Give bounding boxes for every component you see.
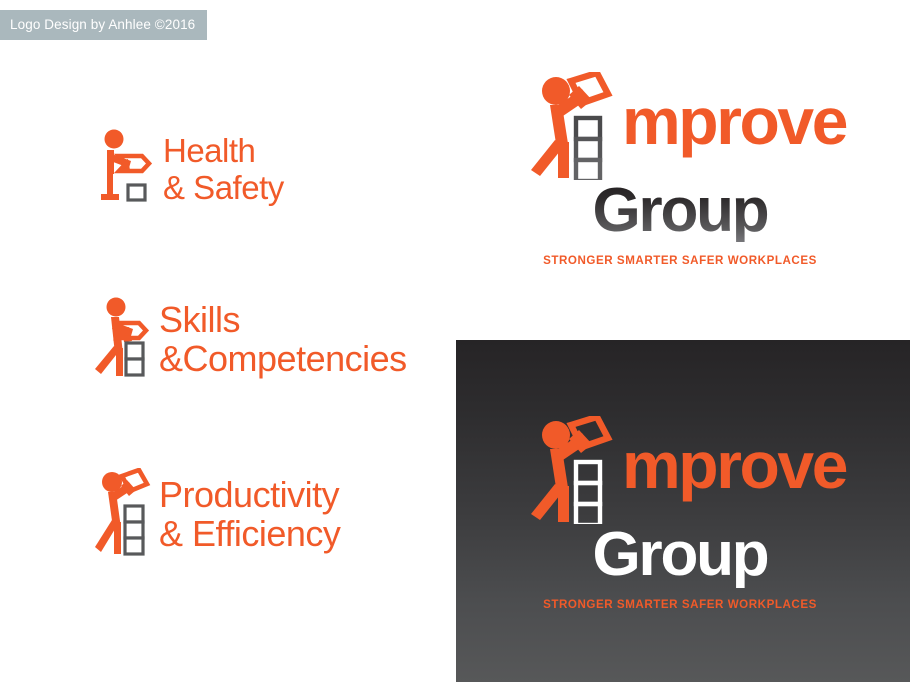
master-logo-dark[interactable]: mprove Group STRONGER SMARTER SAFER WORK… <box>530 426 830 611</box>
sub-logo-line1: Skills <box>159 302 407 338</box>
sub-logo-line1: Health <box>163 134 284 167</box>
master-logo-improve-text: mprove <box>622 88 846 154</box>
worker-seated-lifting-icon <box>95 128 155 209</box>
sub-logo-line1: Productivity <box>159 477 340 513</box>
master-logo-group-text: Group <box>530 524 830 586</box>
master-logo-light[interactable]: mprove Group STRONGER SMARTER SAFER WORK… <box>530 82 830 267</box>
worker-lifting-overhead-icon <box>95 468 153 561</box>
sub-logo-line2: & Efficiency <box>159 516 340 552</box>
presentation-canvas: Logo Design by Anhlee ©2016 <box>0 0 910 682</box>
sub-logo-health-safety[interactable]: Health & Safety <box>95 128 284 209</box>
sub-logo-productivity-efficiency[interactable]: Productivity & Efficiency <box>95 468 340 561</box>
sub-logo-line2: &Competencies <box>159 341 407 377</box>
worker-lifting-overhead-icon <box>530 416 626 529</box>
sub-logo-wordmark: Productivity & Efficiency <box>159 477 340 552</box>
sub-logo-wordmark: Health & Safety <box>163 134 284 204</box>
sub-logo-line2: & Safety <box>163 171 284 204</box>
master-logo-improve-text: mprove <box>622 432 846 498</box>
worker-pushing-box-icon <box>95 296 153 383</box>
master-logo-improve-row: mprove <box>530 426 830 516</box>
master-logo-tagline: STRONGER SMARTER SAFER WORKPLACES <box>530 254 830 267</box>
sub-logo-wordmark: Skills &Competencies <box>159 302 407 377</box>
worker-lifting-overhead-icon <box>530 72 626 185</box>
master-logo-group-text: Group <box>530 180 830 242</box>
master-logo-tagline: STRONGER SMARTER SAFER WORKPLACES <box>530 598 830 611</box>
master-logo-improve-row: mprove <box>530 82 830 172</box>
credit-watermark: Logo Design by Anhlee ©2016 <box>0 10 207 40</box>
sub-logo-skills-competencies[interactable]: Skills &Competencies <box>95 296 407 383</box>
